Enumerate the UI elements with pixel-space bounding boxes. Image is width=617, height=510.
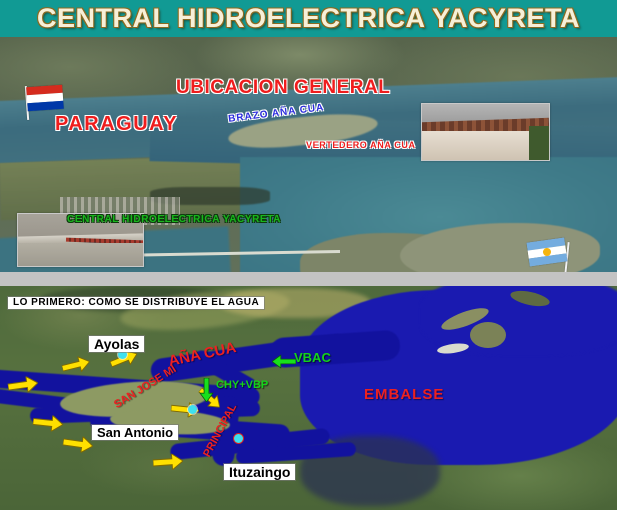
chy-vbp-inflow-arrow (199, 378, 214, 402)
label-chy-vbp: CHY+VBP (216, 380, 268, 391)
label-embalse: EMBALSE (364, 387, 444, 402)
page-title: CENTRAL HIDROELECTRICA YACYRETA (37, 3, 580, 34)
label-lo-primero-heading: LO PRIMERO: COMO SE DISTRIBUYE EL AGUA (8, 297, 264, 309)
bottom-distribution-map: LO PRIMERO: COMO SE DISTRIBUYE EL AGUA A… (0, 286, 617, 510)
water-flow-arrow (32, 413, 64, 432)
top-satellite-map: UBICACION GENERAL PARAGUAY BRAZO AÑA CUA… (0, 37, 617, 272)
label-paraguay: PARAGUAY (55, 114, 178, 134)
label-vbac: VBAC (294, 351, 331, 364)
title-banner: CENTRAL HIDROELECTRICA YACYRETA (0, 0, 617, 37)
section-divider (0, 272, 617, 286)
label-central-hidroelectrica-yacyreta: CENTRAL HIDROELECTRICA YACYRETA (67, 215, 281, 225)
water-flow-arrow (152, 453, 183, 471)
label-san-antonio: San Antonio (92, 425, 178, 440)
slide-root: CENTRAL HIDROELECTRICA YACYRETA (0, 0, 617, 510)
label-ituzaingo: Ituzaingo (224, 464, 295, 480)
city-marker-ituzaingo (234, 434, 243, 443)
ana-cua-spillway-photo (421, 103, 550, 161)
label-ayolas: Ayolas (89, 336, 144, 352)
label-vertedero-ana-cua: VERTEDERO AÑA CUA (306, 141, 416, 150)
city-marker-san-antonio (188, 405, 197, 414)
label-ubicacion-general: UBICACION GENERAL (176, 78, 390, 97)
reservoir-island-2 (470, 322, 506, 348)
paraguay-flag-icon (26, 85, 64, 111)
vbac-inflow-arrow (272, 354, 296, 369)
